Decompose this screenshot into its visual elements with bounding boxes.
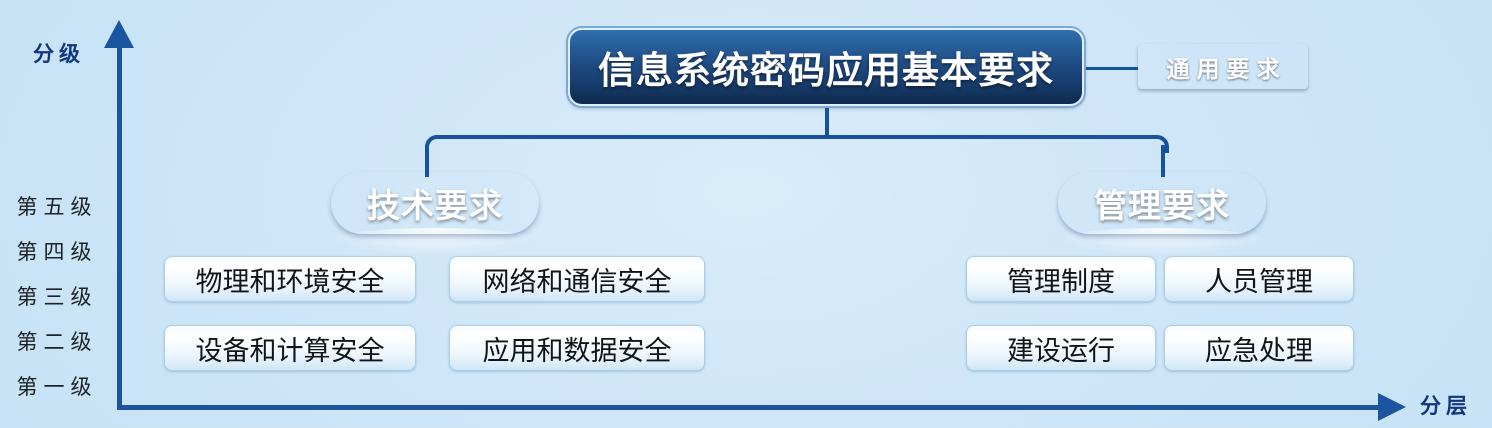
- root-node[interactable]: 信息系统密码应用基本要求: [568, 28, 1084, 106]
- requirements-hierarchy-diagram: 分级 分层 第五级 第四级 第三级 第二级 第一级 信息系统密码应用基本要求 通…: [0, 0, 1492, 428]
- level-scale: 第五级 第四级 第三级 第二级 第一级: [0, 185, 108, 410]
- leaf-label: 应急处理: [1205, 329, 1313, 368]
- connector-root-stem: [825, 104, 829, 139]
- connector-corner-right: [1151, 135, 1169, 153]
- leaf-node-physical-environment-security[interactable]: 物理和环境安全: [164, 256, 416, 302]
- y-axis-arrow-icon: [104, 20, 134, 48]
- x-axis-label: 分层: [1420, 390, 1472, 420]
- x-axis-arrow-icon: [1378, 393, 1406, 421]
- level-tick-3: 第三级: [0, 275, 108, 320]
- y-axis-line: [117, 44, 122, 410]
- leaf-node-personnel-management[interactable]: 人员管理: [1164, 256, 1354, 302]
- leaf-label: 人员管理: [1205, 260, 1313, 299]
- root-node-label: 信息系统密码应用基本要求: [598, 40, 1054, 94]
- connector-bracket-bar: [435, 135, 1155, 139]
- level-tick-5: 第五级: [0, 185, 108, 230]
- leaf-label: 管理制度: [1007, 260, 1115, 299]
- general-requirement-label: 通用要求: [1160, 50, 1287, 84]
- leaf-node-device-computing-security[interactable]: 设备和计算安全: [164, 325, 416, 371]
- y-axis-label: 分级: [33, 38, 85, 68]
- leaf-node-emergency-response[interactable]: 应急处理: [1164, 325, 1354, 371]
- leaf-label: 物理和环境安全: [196, 260, 385, 299]
- leaf-label: 建设运行: [1007, 329, 1115, 368]
- leaf-label: 应用和数据安全: [483, 329, 672, 368]
- x-axis-line: [117, 405, 1384, 410]
- connector-general-requirement: [1084, 67, 1138, 70]
- leaf-node-network-communication-security[interactable]: 网络和通信安全: [449, 256, 705, 302]
- leaf-node-management-system[interactable]: 管理制度: [966, 256, 1156, 302]
- branch-node-technical-label: 技术要求: [367, 179, 503, 227]
- leaf-node-application-data-security[interactable]: 应用和数据安全: [449, 325, 705, 371]
- level-tick-4: 第四级: [0, 230, 108, 275]
- branch-node-management-label: 管理要求: [1094, 179, 1230, 227]
- level-tick-2: 第二级: [0, 320, 108, 365]
- branch-node-technical[interactable]: 技术要求: [331, 172, 539, 234]
- leaf-label: 网络和通信安全: [483, 260, 672, 299]
- branch-node-management[interactable]: 管理要求: [1058, 172, 1266, 234]
- level-tick-1: 第一级: [0, 365, 108, 410]
- leaf-node-construction-operation[interactable]: 建设运行: [966, 325, 1156, 371]
- leaf-label: 设备和计算安全: [196, 329, 385, 368]
- general-requirement-badge[interactable]: 通用要求: [1138, 44, 1308, 89]
